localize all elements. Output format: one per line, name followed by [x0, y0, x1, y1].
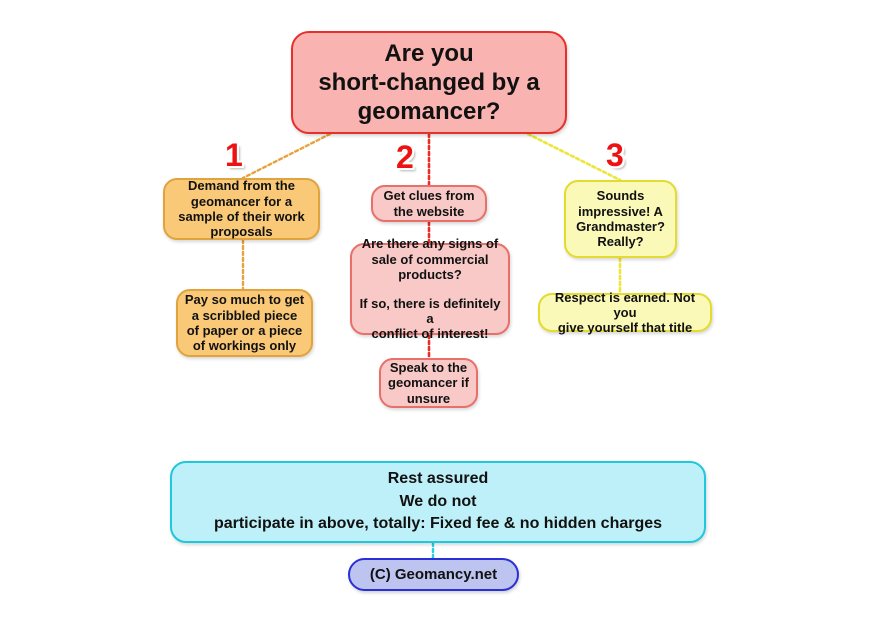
title-text: Are you short-changed by a geomancer? — [312, 39, 545, 127]
branch3-node-grandmaster: Sounds impressive! A Grandmaster? Really… — [564, 180, 677, 258]
branch2-node1-text: Get clues from the website — [377, 188, 480, 219]
branch-number-2: 2 — [396, 141, 414, 173]
title-node: Are you short-changed by a geomancer? — [291, 31, 567, 134]
branch2-node2-paragraph-2: If so, there is definitely a conflict of… — [358, 296, 502, 342]
branch2-node2-paragraph-1: Are there any signs of sale of commercia… — [358, 236, 502, 282]
conclusion-node: Rest assured We do not participate in ab… — [170, 461, 706, 543]
branch3-node2-text: Respect is earned. Not you give yourself… — [540, 290, 710, 336]
branch1-node1-text: Demand from the geomancer for a sample o… — [172, 178, 310, 239]
branch-number-1: 1 — [225, 139, 243, 171]
branch3-node1-text: Sounds impressive! A Grandmaster? Really… — [570, 188, 671, 249]
connector-title-to-branch1 — [243, 134, 330, 178]
branch1-node-scribbled-paper: Pay so much to get a scribbled piece of … — [176, 289, 313, 357]
branch3-node-respect-earned: Respect is earned. Not you give yourself… — [538, 293, 712, 332]
footer-copyright-node[interactable]: (C) Geomancy.net — [348, 558, 519, 591]
branch1-node2-text: Pay so much to get a scribbled piece of … — [179, 292, 310, 353]
branch-number-3: 3 — [606, 139, 624, 171]
branch2-node-commercial-products: Are there any signs of sale of commercia… — [350, 243, 510, 335]
branch2-node-get-clues: Get clues from the website — [371, 185, 487, 222]
footer-copyright-text: (C) Geomancy.net — [364, 566, 503, 584]
branch2-node-speak-geomancer: Speak to the geomancer if unsure — [379, 358, 478, 408]
conclusion-text: Rest assured We do not participate in ab… — [208, 468, 668, 536]
branch2-node3-text: Speak to the geomancer if unsure — [382, 360, 475, 406]
branch2-node2-body: Are there any signs of sale of commercia… — [352, 236, 508, 342]
branch1-node-demand-sample: Demand from the geomancer for a sample o… — [163, 178, 320, 240]
diagram-canvas: Are you short-changed by a geomancer? 1 … — [0, 0, 877, 620]
